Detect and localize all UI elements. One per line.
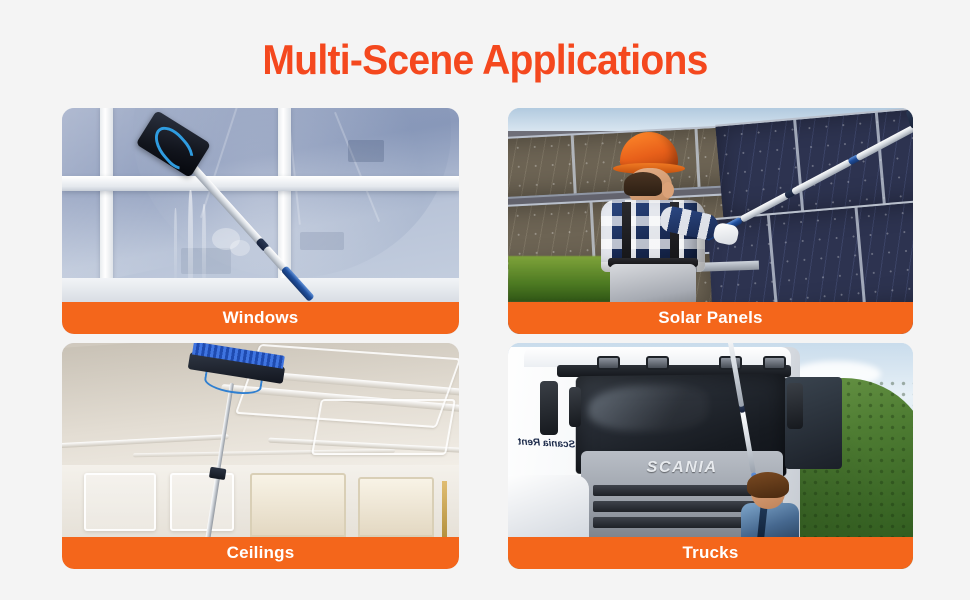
windows-scene-image: [62, 108, 459, 334]
person-hair: [747, 472, 789, 498]
person-figure: [739, 475, 801, 537]
wall-panel: [84, 473, 156, 531]
side-mirror-icon: [569, 387, 581, 427]
card-label-bar-windows: Windows: [62, 302, 459, 334]
water-streak: [174, 208, 177, 288]
worker-figure: [596, 132, 712, 302]
solar-panels-scene-image: [508, 108, 913, 334]
truck-fender: [508, 475, 589, 537]
application-card-grid: Windows: [62, 108, 913, 574]
worker-hair: [624, 172, 662, 196]
card-label-bar-ceilings: Ceilings: [62, 537, 459, 569]
worker-ear: [662, 182, 674, 198]
card-label-trucks: Trucks: [682, 543, 738, 563]
card-label-bar-trucks: Trucks: [508, 537, 913, 569]
window-mullion-horizontal: [62, 176, 459, 191]
card-label-ceilings: Ceilings: [227, 543, 295, 563]
glass-reflection: [300, 232, 344, 250]
application-card-windows[interactable]: Windows: [62, 108, 459, 334]
roof-lamp-icon: [763, 356, 786, 370]
side-mirror-icon: [787, 383, 803, 429]
infographic-page: Multi-Scene Applications: [0, 0, 970, 600]
card-label-bar-solar-panels: Solar Panels: [508, 302, 913, 334]
application-card-solar-panels[interactable]: Solar Panels: [508, 108, 913, 334]
roof-lamp-icon: [646, 356, 669, 370]
door-frame: [358, 477, 434, 537]
glass-reflection: [348, 140, 384, 162]
card-label-solar-panels: Solar Panels: [658, 308, 762, 328]
application-card-trucks[interactable]: SCANIA Scania Rent: [508, 343, 913, 569]
page-title: Multi-Scene Applications: [34, 36, 936, 84]
roof-lamp-icon: [597, 356, 620, 370]
ceiling-molding-panel: [311, 399, 456, 455]
window-sill: [62, 278, 459, 304]
door-frame: [250, 473, 346, 537]
ceilings-scene-image: [62, 343, 459, 569]
water-spray: [230, 240, 250, 256]
side-mirror-icon: [540, 381, 558, 435]
trucks-scene-image: SCANIA Scania Rent: [508, 343, 913, 569]
wall-panel: [170, 473, 234, 531]
windshield-reflection: [588, 385, 708, 431]
gold-trim: [442, 481, 447, 537]
application-card-ceilings[interactable]: Ceilings: [62, 343, 459, 569]
card-label-windows: Windows: [223, 308, 299, 328]
worker-overalls: [610, 264, 696, 306]
